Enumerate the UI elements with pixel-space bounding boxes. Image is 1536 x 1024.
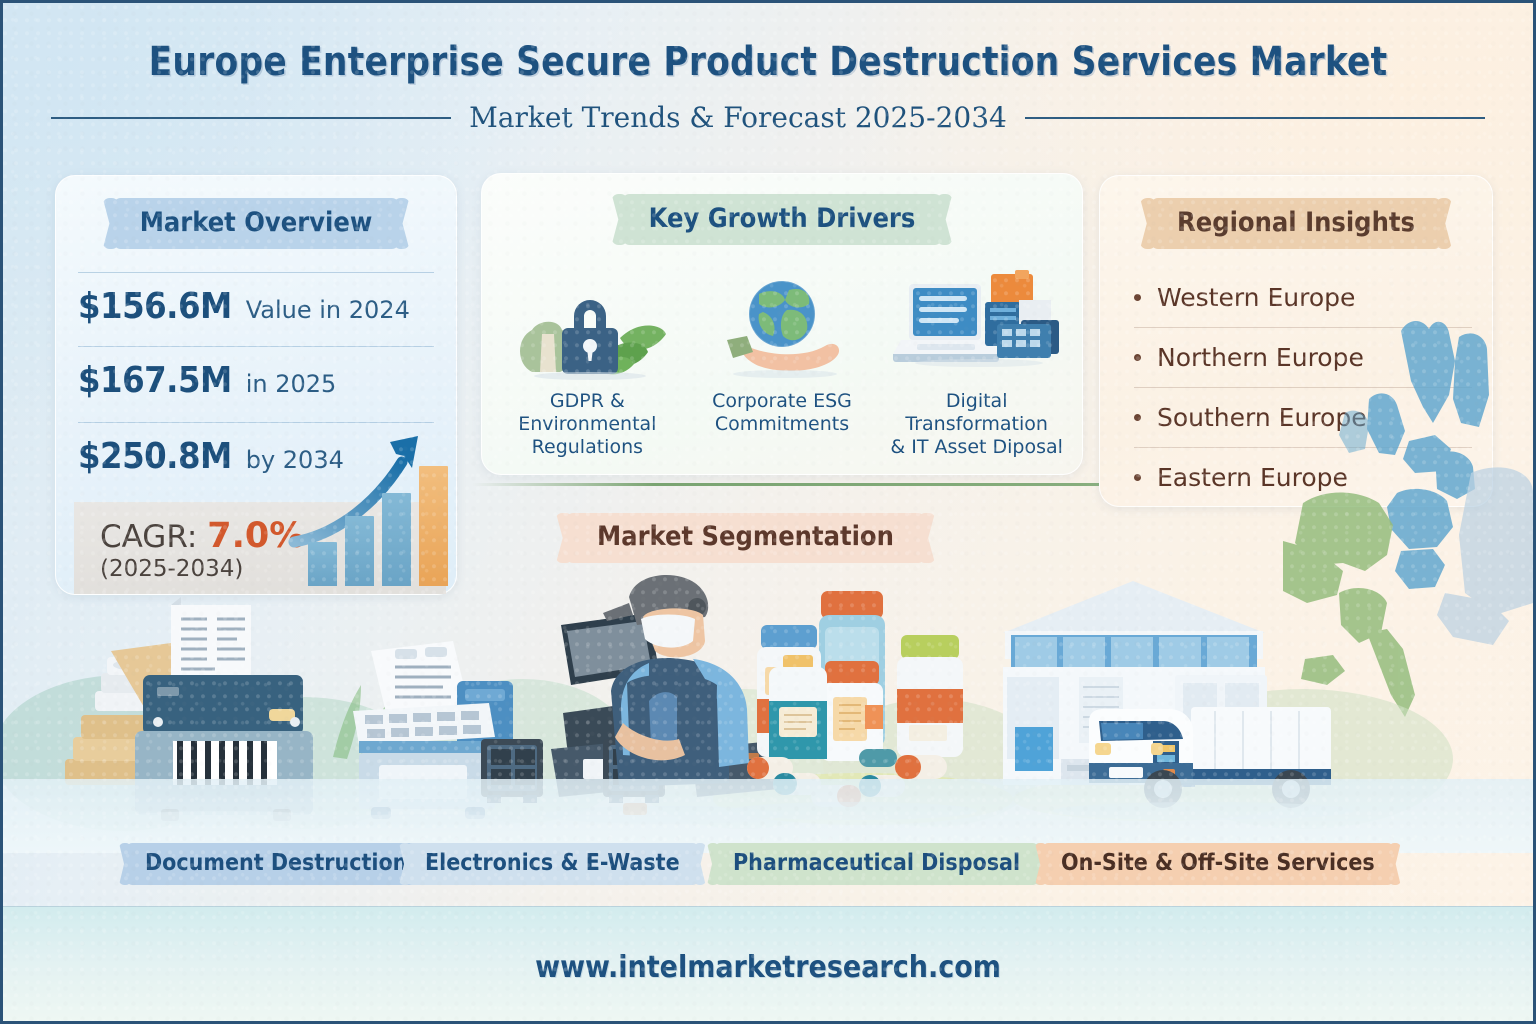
overview-label-2024: Value in 2024 (246, 296, 410, 324)
subtitle-rule-right (1025, 117, 1485, 119)
subtitle-rule-left (51, 117, 451, 119)
overview-divider-1 (78, 272, 434, 273)
overview-row-2024: $156.6M Value in 2024 (78, 286, 434, 327)
key-growth-drivers-heading: Key Growth Drivers (623, 194, 942, 245)
key-growth-drivers-card: Key Growth Drivers (481, 173, 1083, 475)
segment-label-document-destruction[interactable]: Document Destruction (127, 843, 425, 885)
bullet-icon (1134, 294, 1141, 301)
driver-item-digital: DigitalTransformation& IT Asset Diposal (879, 262, 1074, 460)
overview-label-2025: in 2025 (246, 370, 337, 398)
laptop-servers-icon (879, 262, 1074, 380)
overview-divider-3 (78, 422, 434, 423)
driver-caption-esg: Corporate ESGCommitments (685, 390, 880, 436)
header: Europe Enterprise Secure Product Destruc… (3, 3, 1533, 134)
bullet-icon (1134, 354, 1141, 361)
overview-row-2025: $167.5M in 2025 (78, 360, 434, 401)
page-subtitle: Market Trends & Forecast 2025-2034 (469, 101, 1007, 134)
segment-label-onsite-offsite-services[interactable]: On-Site & Off-Site Services (1043, 843, 1393, 885)
overview-value-2024: $156.6M (78, 286, 232, 327)
footer-url[interactable]: www.intelmarketresearch.com (3, 950, 1533, 985)
ground-strip (3, 779, 1536, 853)
driver-item-esg: Corporate ESGCommitments (685, 262, 880, 460)
market-segmentation-heading: Market Segmentation (567, 513, 924, 563)
segmentation-illustration (3, 563, 1536, 853)
driver-caption-digital: DigitalTransformation& IT Asset Diposal (879, 390, 1074, 460)
drivers-grid: GDPR & EnvironmentalRegulations (490, 262, 1074, 460)
segment-label-pharmaceutical-disposal[interactable]: Pharmaceutical Disposal (715, 843, 1038, 885)
page-title: Europe Enterprise Secure Product Destruc… (34, 39, 1503, 85)
hand-holding-globe-icon (685, 262, 880, 380)
infographic-canvas: Europe Enterprise Secure Product Destruc… (0, 0, 1536, 1024)
padlock-with-leaves-icon (490, 262, 685, 380)
bullet-icon (1134, 414, 1141, 421)
cagr-row: CAGR: 7.0% (100, 516, 304, 556)
subtitle-row: Market Trends & Forecast 2025-2034 (3, 101, 1533, 134)
driver-item-gdpr: GDPR & EnvironmentalRegulations (490, 262, 685, 460)
cagr-prefix: CAGR: (100, 519, 207, 555)
segment-label-electronics-ewaste[interactable]: Electronics & E-Waste (407, 843, 698, 885)
bullet-icon (1134, 474, 1141, 481)
overview-value-2034: $250.8M (78, 436, 232, 477)
market-overview-heading: Market Overview (114, 198, 399, 249)
driver-caption-gdpr: GDPR & EnvironmentalRegulations (490, 390, 685, 460)
market-overview-card: Market Overview $156.6M Value in 2024 $1… (55, 175, 457, 595)
regional-insights-heading: Regional Insights (1151, 198, 1441, 249)
overview-divider-2 (78, 346, 434, 347)
overview-value-2025: $167.5M (78, 360, 232, 401)
